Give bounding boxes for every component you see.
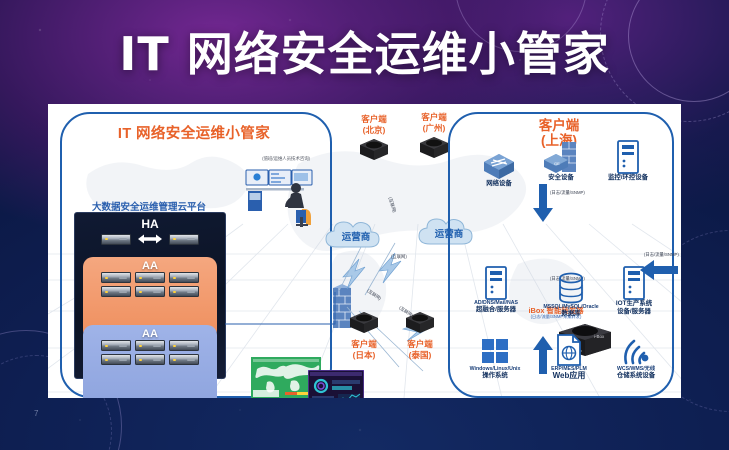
client-node-thailand[interactable]: 客户端 (泰国) — [394, 310, 446, 360]
device-iot-production[interactable]: IOT生产系统 设备/服务器 — [600, 266, 668, 315]
server-unit — [169, 354, 199, 365]
switch-icon — [466, 146, 532, 180]
server-unit — [169, 340, 199, 351]
page-title: IT 网络安全运维小管家 — [0, 18, 729, 84]
device-label-cn: Web应用 — [534, 372, 604, 380]
client-label: 客户端 — [348, 115, 400, 125]
device-label-cn: 仓储系统设备 — [600, 372, 672, 380]
server-unit — [101, 234, 131, 245]
device-network-equipment[interactable]: 网络设备 — [466, 146, 532, 188]
device-label-cn: 监控/环控设备 — [595, 174, 661, 182]
cloud-label: 运营商 — [325, 219, 387, 253]
device-label-cn: 数据库 — [531, 310, 611, 318]
device-label-cn: 安全设备 — [528, 174, 594, 182]
server-rack-box: HA AA AA — [74, 212, 226, 379]
aa-label-orange: AA — [83, 260, 217, 272]
client-location: (日本) — [338, 351, 390, 361]
arrow-label: (日志/流量/SNMP) — [550, 190, 585, 196]
server-unit — [101, 286, 131, 297]
aa-label-blue: AA — [83, 328, 217, 340]
appliance-box-icon — [357, 137, 391, 161]
windows-icon — [456, 332, 534, 366]
arrow-label: (日志/流量/SNMP) — [644, 252, 679, 258]
device-label-cn: 超融合/服务器 — [458, 306, 534, 314]
device-warehouse-wireless[interactable]: WCS/WMS/无线 仓储系统设备 — [600, 332, 672, 380]
aa-server-grid — [83, 272, 217, 297]
device-web-application[interactable]: ERP/MES/PLM Web应用 — [534, 332, 604, 380]
database-icon — [531, 270, 611, 304]
device-label-cn: IOT生产系统 — [600, 300, 668, 308]
operator-caption: (值班/运维人员技术咨询) — [244, 156, 328, 162]
appliance-box-icon — [347, 310, 381, 334]
server-unit — [135, 340, 165, 351]
aa-server-grid — [83, 340, 217, 365]
left-panel-title: IT 网络安全运维小管家 — [60, 122, 328, 143]
page-number: 7 — [34, 409, 38, 418]
server-unit — [135, 354, 165, 365]
server-tower-icon — [600, 266, 668, 300]
ha-server-row — [75, 233, 225, 245]
aa-cluster-blue: AA — [83, 325, 217, 398]
svg-text:GE: GE — [554, 161, 560, 166]
operator-cloud-left[interactable]: 运营商 — [325, 219, 387, 253]
device-database[interactable]: MSSQL/MySQL/Oracle 数据库 — [531, 270, 611, 318]
device-monitoring-equipment[interactable]: 监控/环控设备 — [595, 140, 661, 182]
right-panel-title-line1: 客户端 — [448, 118, 670, 133]
server-unit — [135, 272, 165, 283]
diagram-canvas: IT 网络安全运维小管家 大数据安全运维管理云平台 HA AA — [48, 104, 681, 398]
ha-label: HA — [75, 217, 225, 231]
device-ad-dns-server[interactable]: AD/DNS/Mail/NAS 超融合/服务器 — [458, 266, 534, 314]
firewall-icon: GE — [528, 140, 594, 174]
link-label-internet: (互联网) — [391, 254, 407, 260]
server-unit — [169, 234, 199, 245]
appliance-box-icon — [403, 310, 437, 334]
client-location: (北京) — [348, 126, 400, 136]
platform-label: 大数据安全运维管理云平台 — [74, 199, 224, 213]
device-operating-system[interactable]: Windows/Linux/Unix 操作系统 — [456, 332, 534, 380]
client-node-japan[interactable]: 客户端 (日本) — [338, 310, 390, 360]
server-unit — [101, 340, 131, 351]
wifi-icon — [600, 332, 672, 366]
server-tower-icon — [458, 266, 534, 300]
server-tower-icon — [595, 140, 661, 174]
client-location: (泰国) — [394, 351, 446, 361]
device-security-equipment[interactable]: GE 安全设备 — [528, 140, 594, 182]
client-label: 客户端 — [394, 340, 446, 350]
server-unit — [169, 286, 199, 297]
server-unit — [101, 272, 131, 283]
server-unit — [101, 354, 131, 365]
web-page-icon — [534, 332, 604, 366]
server-unit — [169, 272, 199, 283]
server-unit — [135, 286, 165, 297]
ha-sync-arrow-icon — [137, 233, 163, 245]
device-label-cn2: 设备/服务器 — [600, 308, 668, 316]
slide-root: IT 网络安全运维小管家 7 — [0, 0, 729, 450]
client-node-beijing[interactable]: 客户端 (北京) — [348, 114, 400, 166]
client-label: 客户端 — [338, 340, 390, 350]
device-label-cn: 操作系统 — [456, 372, 534, 380]
appliance-box-icon — [417, 135, 451, 159]
